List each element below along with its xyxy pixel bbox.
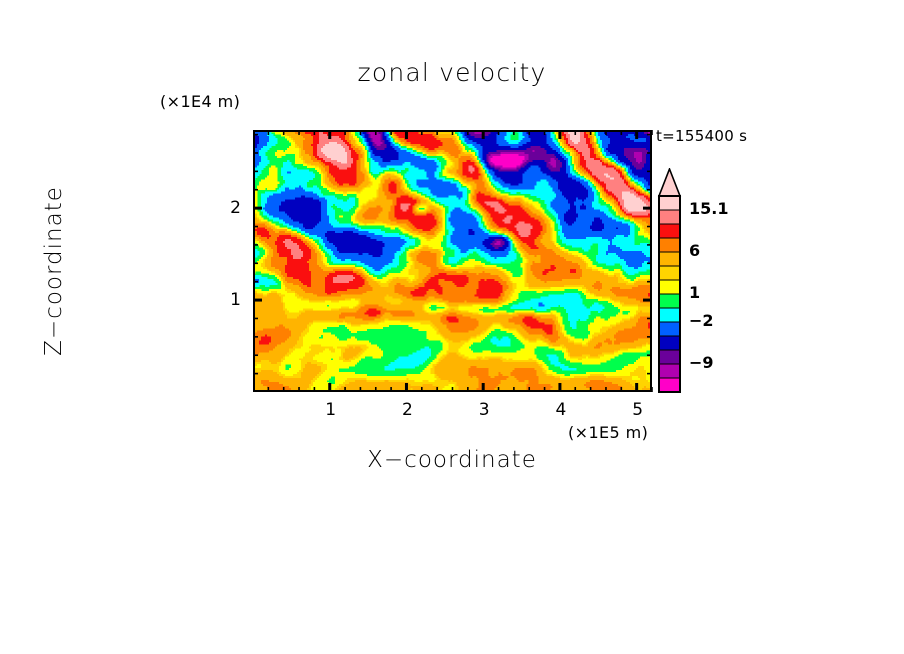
page-title: zonal velocity (0, 58, 904, 87)
y-tick-label: 2 (203, 198, 241, 218)
y-tick-label: 1 (203, 290, 241, 310)
x-tick-label: 1 (306, 400, 356, 420)
contour-plot-area (253, 130, 652, 392)
figure-canvas: zonal velocity (×1E4 m) (×1E5 m) X−coord… (0, 0, 904, 654)
x-tick-label: 2 (382, 400, 432, 420)
x-tick-label: 5 (613, 400, 663, 420)
x-tick-label: 4 (536, 400, 586, 420)
colorbar-tick-label: 15.1 (689, 199, 728, 218)
x-axis-title: X−coordinate (0, 447, 904, 473)
colorbar (656, 168, 690, 393)
colorbar-tick-label: −9 (689, 353, 714, 372)
x-tick-label: 3 (459, 400, 509, 420)
y-axis-units-label: (×1E4 m) (160, 92, 240, 111)
y-axis-title: Z−coordinate (41, 121, 67, 421)
colorbar-tick-label: 1 (689, 283, 700, 302)
colorbar-tick-label: −2 (689, 311, 714, 330)
timestamp-annotation: t=155400 s (656, 127, 747, 145)
axis-ticks (252, 129, 654, 395)
colorbar-tick-label: 6 (689, 241, 700, 260)
x-axis-units-label: (×1E5 m) (568, 423, 648, 442)
